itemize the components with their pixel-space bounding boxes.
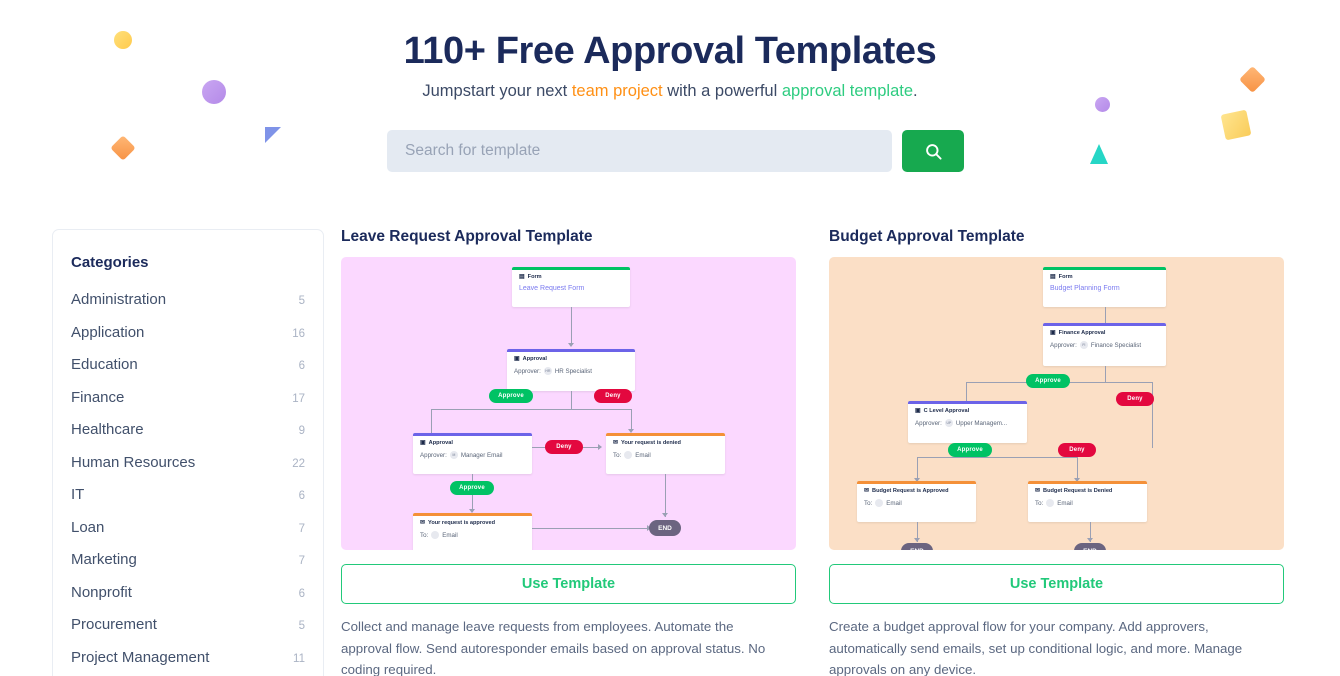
use-template-button[interactable]: Use Template <box>341 564 796 604</box>
category-label: Procurement <box>71 616 157 633</box>
node-approver-row: Approver: HR HR Specialist <box>514 367 628 375</box>
node-kind-label: Approval <box>523 356 547 362</box>
document-icon: ▤ <box>1050 274 1056 280</box>
flow-node-end: END <box>649 520 681 536</box>
search-icon <box>924 142 943 161</box>
node-accent-bar <box>857 481 976 484</box>
node-approver-row: Approver: UP Upper Managem... <box>915 419 1020 427</box>
flow-node-end-right: END <box>1074 543 1106 550</box>
node-accent-bar <box>606 433 725 436</box>
template-preview-image[interactable]: ▤ Form Leave Request Form ▣ Approval App… <box>341 257 796 550</box>
connector <box>532 528 649 529</box>
email-target: Email <box>886 500 901 507</box>
category-item[interactable]: Marketing7 <box>71 543 305 576</box>
email-icon: ✉ <box>1035 488 1040 494</box>
category-count: 7 <box>299 523 305 535</box>
category-item[interactable]: Education6 <box>71 348 305 381</box>
approver-label: Approver: <box>514 368 541 375</box>
node-kind-label: Your request is denied <box>621 440 681 446</box>
approver-label: Approver: <box>1050 342 1077 349</box>
category-label: Marketing <box>71 551 137 568</box>
node-kind: ▣ Approval <box>514 356 628 362</box>
node-email-to-row: To: Email <box>613 451 718 459</box>
node-kind-label: Budget Request is Approved <box>872 488 949 494</box>
arrow-head <box>914 538 920 542</box>
card-title: Leave Request Approval Template <box>341 228 796 246</box>
approver-label: Approver: <box>915 420 942 427</box>
connector <box>631 409 632 431</box>
use-template-button[interactable]: Use Template <box>829 564 1284 604</box>
category-count: 11 <box>293 653 305 665</box>
search-input[interactable] <box>387 130 892 172</box>
email-to-label: To: <box>420 532 428 539</box>
node-kind-label: Finance Approval <box>1059 330 1106 336</box>
orange-diamond-shape <box>110 135 135 160</box>
email-to-label: To: <box>1035 500 1043 507</box>
category-label: Human Resources <box>71 454 195 471</box>
node-accent-bar <box>512 267 630 270</box>
avatar <box>431 531 439 539</box>
category-count: 22 <box>292 458 305 470</box>
connector <box>571 307 572 345</box>
email-icon: ✉ <box>420 520 425 526</box>
node-kind: ▣ Approval <box>420 440 525 446</box>
node-kind: ✉ Budget Request is Approved <box>864 488 969 494</box>
flow-node-email-approved: ✉ Your request is approved To: Email <box>413 513 532 550</box>
approver-name: Finance Specialist <box>1091 342 1141 349</box>
avatar: FI <box>1080 341 1088 349</box>
category-label: Education <box>71 356 138 373</box>
node-kind: ✉ Budget Request is Denied <box>1035 488 1140 494</box>
approval-stamp-icon: ▣ <box>420 440 426 446</box>
card-title: Budget Approval Template <box>829 228 1284 246</box>
template-card-leave-request: Leave Request Approval Template ▤ Form L… <box>341 228 796 676</box>
avatar <box>875 499 883 507</box>
approver-name: Manager Email <box>461 452 503 459</box>
hero-section: 110+ Free Approval Templates Jumpstart y… <box>0 0 1340 101</box>
node-email-to-row: To: Email <box>420 531 525 539</box>
flow-node-form: ▤ Form Leave Request Form <box>512 267 630 307</box>
approver-name: HR Specialist <box>555 368 592 375</box>
flow-node-clevel-approval: ▣ C Level Approval Approver: UP Upper Ma… <box>908 401 1027 443</box>
pill-deny: Deny <box>545 440 583 454</box>
connector <box>571 391 572 409</box>
document-icon: ▤ <box>519 274 525 280</box>
flow-diagram-budget: ▤ Form Budget Planning Form ▣ Finance Ap… <box>829 257 1284 550</box>
category-count: 6 <box>299 588 305 600</box>
avatar: HR <box>544 367 552 375</box>
category-label: Administration <box>71 291 166 308</box>
approval-stamp-icon: ▣ <box>1050 330 1056 336</box>
category-count: 6 <box>299 490 305 502</box>
pill-approve: Approve <box>948 443 992 457</box>
category-count: 9 <box>299 425 305 437</box>
email-target: Email <box>442 532 457 539</box>
connector <box>967 457 1077 458</box>
flow-node-approval-manager: ▣ Approval Approver: M Manager Email <box>413 433 532 474</box>
email-icon: ✉ <box>864 488 869 494</box>
node-kind: ▣ C Level Approval <box>915 408 1020 414</box>
page-root: 110+ Free Approval Templates Jumpstart y… <box>0 0 1340 676</box>
category-count: 17 <box>292 393 305 405</box>
node-kind-label: Your request is approved <box>428 520 495 526</box>
pill-deny: Deny <box>1116 392 1154 406</box>
connector <box>1105 366 1106 382</box>
category-label: Nonprofit <box>71 584 132 601</box>
node-kind-label: Form <box>1059 274 1073 280</box>
arrow-head <box>568 343 574 347</box>
node-kind-label: C Level Approval <box>924 408 970 414</box>
category-item[interactable]: Finance17 <box>71 381 305 414</box>
yellow-square-shape <box>1221 110 1252 141</box>
hero-subtitle: Jumpstart your next team project with a … <box>0 82 1340 101</box>
approval-stamp-icon: ▣ <box>514 356 520 362</box>
node-accent-bar <box>1043 267 1166 270</box>
team-project-link[interactable]: team project <box>572 82 663 100</box>
node-kind: ▤ Form <box>1050 274 1159 280</box>
flow-node-email-approved: ✉ Budget Request is Approved To: Email <box>857 481 976 522</box>
search-bar <box>387 130 964 172</box>
card-description: Collect and manage leave requests from e… <box>341 616 781 676</box>
node-kind-label: Budget Request is Denied <box>1043 488 1112 494</box>
avatar: M <box>450 451 458 459</box>
node-accent-bar <box>1043 323 1166 326</box>
category-count: 5 <box>299 295 305 307</box>
avatar <box>624 451 632 459</box>
connector <box>917 457 967 458</box>
node-form-name: Budget Planning Form <box>1050 285 1159 292</box>
category-item[interactable]: Application16 <box>71 316 305 349</box>
connector <box>665 474 666 517</box>
category-count: 16 <box>292 328 305 340</box>
email-target: Email <box>1057 500 1072 507</box>
node-approver-row: Approver: FI Finance Specialist <box>1050 341 1159 349</box>
category-label: IT <box>71 486 84 503</box>
node-accent-bar <box>413 513 532 516</box>
pill-approve: Approve <box>489 389 533 403</box>
page-title: 110+ Free Approval Templates <box>0 30 1340 73</box>
node-accent-bar <box>1028 481 1147 484</box>
node-kind: ✉ Your request is approved <box>420 520 525 526</box>
node-accent-bar <box>908 401 1027 404</box>
arrow-head <box>598 444 602 450</box>
category-count: 7 <box>299 555 305 567</box>
email-to-label: To: <box>864 500 872 507</box>
pill-deny: Deny <box>594 389 632 403</box>
flow-node-end-left: END <box>901 543 933 550</box>
avatar <box>1046 499 1054 507</box>
pill-approve: Approve <box>1026 374 1070 388</box>
approval-template-link[interactable]: approval template <box>782 82 913 100</box>
email-target: Email <box>635 452 650 459</box>
flow-node-email-denied: ✉ Your request is denied To: Email <box>606 433 725 474</box>
category-item[interactable]: Nonprofit6 <box>71 576 305 609</box>
node-email-to-row: To: Email <box>1035 499 1140 507</box>
categories-list: Administration5Application16Education6Fi… <box>71 283 305 676</box>
category-label: Loan <box>71 519 104 536</box>
email-to-label: To: <box>613 452 621 459</box>
flow-node-finance-approval: ▣ Finance Approval Approver: FI Finance … <box>1043 323 1166 366</box>
teal-triangle-shape <box>1090 144 1108 164</box>
blue-triangle-shape <box>265 127 281 143</box>
node-accent-bar <box>413 433 532 436</box>
flow-diagram-leave-request: ▤ Form Leave Request Form ▣ Approval App… <box>341 257 796 550</box>
avatar: UP <box>945 419 953 427</box>
node-kind-label: Approval <box>429 440 453 446</box>
subtitle-mid: with a powerful <box>663 82 782 100</box>
node-approver-row: Approver: M Manager Email <box>420 451 525 459</box>
approver-name: Upper Managem... <box>956 420 1007 427</box>
flow-node-approval-hr: ▣ Approval Approver: HR HR Specialist <box>507 349 635 391</box>
card-description: Create a budget approval flow for your c… <box>829 616 1269 676</box>
category-item[interactable]: Loan7 <box>71 511 305 544</box>
connector <box>1152 382 1153 448</box>
subtitle-post: . <box>913 82 918 100</box>
flow-node-email-denied: ✉ Budget Request is Denied To: Email <box>1028 481 1147 522</box>
flow-node-form: ▤ Form Budget Planning Form <box>1043 267 1166 307</box>
subtitle-pre: Jumpstart your next <box>422 82 571 100</box>
pill-deny: Deny <box>1058 443 1096 457</box>
category-label: Project Management <box>71 649 209 666</box>
node-form-name: Leave Request Form <box>519 285 623 292</box>
connector <box>431 409 631 410</box>
template-card-budget: Budget Approval Template ▤ Form Budget P… <box>829 228 1284 676</box>
node-kind: ✉ Your request is denied <box>613 440 718 446</box>
category-label: Application <box>71 324 144 341</box>
categories-title: Categories <box>71 254 305 271</box>
email-icon: ✉ <box>613 440 618 446</box>
node-kind-label: Form <box>528 274 542 280</box>
approval-stamp-icon: ▣ <box>915 408 921 414</box>
node-accent-bar <box>507 349 635 352</box>
node-kind: ▣ Finance Approval <box>1050 330 1159 336</box>
arrow-head <box>1087 538 1093 542</box>
approver-label: Approver: <box>420 452 447 459</box>
category-item[interactable]: Healthcare9 <box>71 413 305 446</box>
category-count: 5 <box>299 620 305 632</box>
node-kind: ▤ Form <box>519 274 623 280</box>
category-count: 6 <box>299 360 305 372</box>
category-item[interactable]: Human Resources22 <box>71 446 305 479</box>
category-item[interactable]: Project Management11 <box>71 641 305 674</box>
pill-approve: Approve <box>450 481 494 495</box>
category-item[interactable]: IT6 <box>71 478 305 511</box>
category-item[interactable]: Administration5 <box>71 283 305 316</box>
search-button[interactable] <box>902 130 964 172</box>
category-label: Finance <box>71 389 124 406</box>
category-item[interactable]: Procurement5 <box>71 608 305 641</box>
categories-sidebar: Categories Administration5Application16E… <box>52 229 324 676</box>
node-email-to-row: To: Email <box>864 499 969 507</box>
template-preview-image[interactable]: ▤ Form Budget Planning Form ▣ Finance Ap… <box>829 257 1284 550</box>
arrow-head <box>662 513 668 517</box>
category-label: Healthcare <box>71 421 144 438</box>
